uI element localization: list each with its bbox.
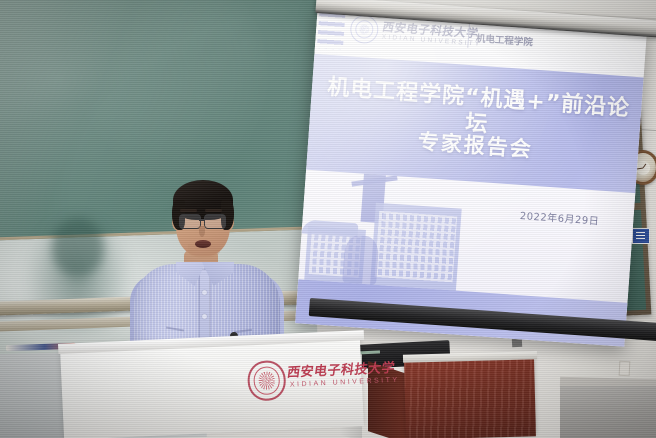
table-wood-grain (404, 356, 536, 438)
speaker-eyebrow-left (180, 209, 197, 212)
clock-face (636, 161, 650, 175)
podium-university-seal-icon (247, 360, 283, 398)
building-windows-main (375, 211, 458, 282)
glasses-lens-left (179, 214, 201, 229)
glasses-bridge (199, 219, 204, 221)
projection-screen: 西安电子科技大学 XIDIAN UNIVERSITY 机电工程学院 机电工程学院… (295, 4, 647, 347)
speaker-mouth (195, 240, 211, 248)
glasses-lens-right (204, 214, 226, 229)
shirt-button-1 (202, 290, 207, 295)
blue-wall-sign (632, 228, 650, 244)
floor (560, 386, 656, 438)
building-tree-cluster (342, 235, 379, 285)
speaker-nose (199, 226, 205, 237)
decorative-stripes (317, 12, 346, 50)
slide-department-name: 机电工程学院 (476, 30, 534, 48)
speaker-eyebrow-right (205, 209, 222, 212)
xidian-university-seal-icon (349, 14, 379, 44)
podium-seal-ring (247, 360, 287, 402)
wooden-table (404, 356, 536, 438)
clock-hour-hand (643, 163, 647, 168)
shirt-button-2 (202, 314, 207, 319)
lecture-hall-photo: 西安电子科技大学 XIDIAN UNIVERSITY 机电工程学院 机电工程学院… (0, 0, 656, 438)
wall-outlet (619, 361, 631, 377)
clock-minute-hand (637, 167, 643, 169)
reflected-silhouette-head (52, 218, 104, 276)
presentation-slide: 西安电子科技大学 XIDIAN UNIVERSITY 机电工程学院 机电工程学院… (295, 4, 647, 347)
slide-date: 2022年6月29日 (519, 207, 599, 228)
